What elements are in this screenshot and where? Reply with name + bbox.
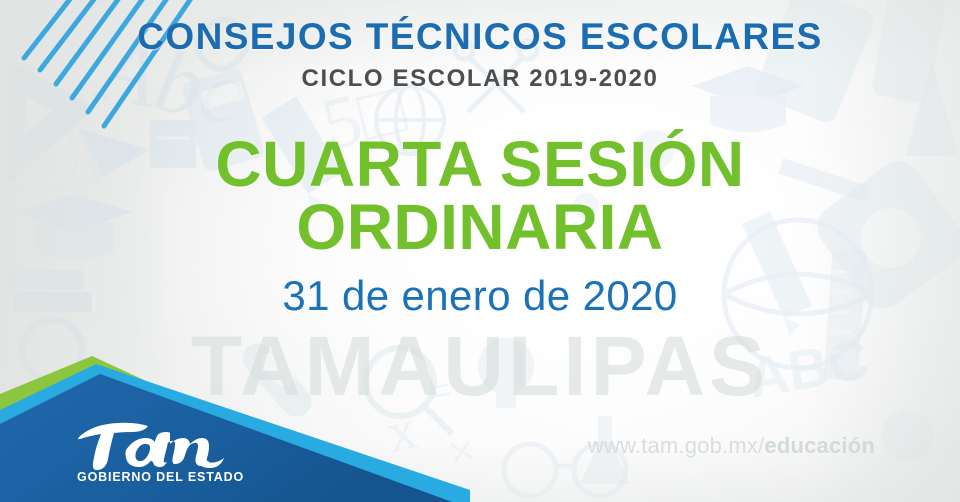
headline-line-1: CUARTA SESIÓN — [215, 128, 744, 200]
footer-url-prefix: www.tam.gob.mx/ — [588, 433, 765, 458]
footer-url: www.tam.gob.mx/educación — [588, 433, 875, 459]
poster-canvas: Abc — [0, 0, 960, 502]
headline-line-2: ORDINARIA — [0, 196, 960, 259]
page-title: CONSEJOS TÉCNICOS ESCOLARES — [0, 0, 960, 57]
poster-text-block: CONSEJOS TÉCNICOS ESCOLARES CICLO ESCOLA… — [0, 0, 960, 319]
logo-tagline: GOBIERNO DEL ESTADO — [77, 470, 244, 484]
footer-url-strong: educación — [764, 433, 875, 458]
headline: CUARTA SESIÓN ORDINARIA — [0, 91, 960, 258]
page-subtitle: CICLO ESCOLAR 2019-2020 — [0, 57, 960, 91]
event-date: 31 de enero de 2020 — [0, 258, 960, 318]
